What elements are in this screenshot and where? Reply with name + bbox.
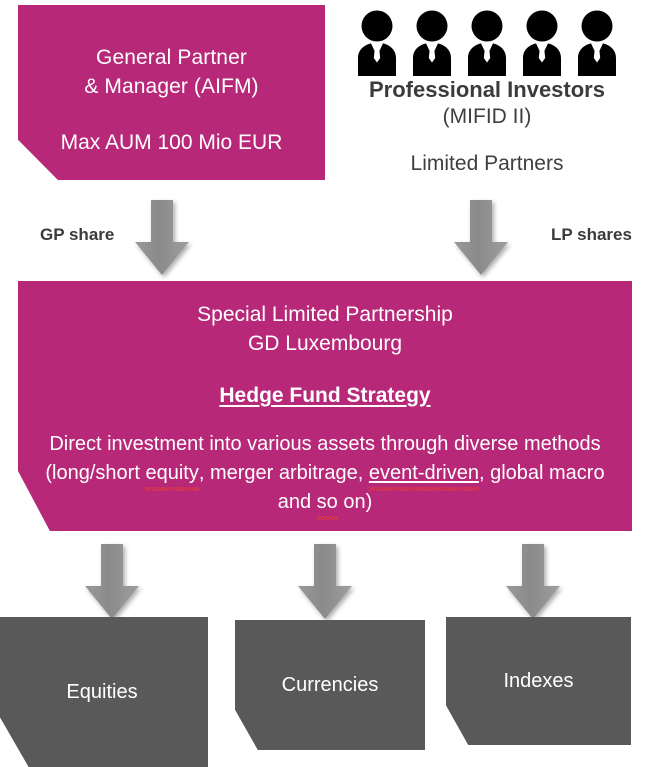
investors-title: Professional Investors — [369, 77, 605, 103]
lp-shares-label: LP shares — [551, 225, 632, 245]
asset-class-label: Indexes — [503, 669, 573, 693]
asset-class-box-equities: Equities — [0, 617, 208, 767]
strategy-text-part: on) — [338, 491, 372, 513]
investor-icon-row — [353, 6, 621, 76]
strategy-text-misspelled-so: so — [317, 488, 338, 517]
gp-max-aum-text: Max AUM 100 Mio EUR — [61, 128, 283, 157]
gp-title-line-1: General Partner — [96, 43, 247, 72]
down-arrow-icon — [133, 198, 195, 280]
general-partner-panel: General Partner & Manager (AIFM) Max AUM… — [18, 5, 325, 180]
business-person-icon — [518, 10, 566, 76]
strategy-description: Direct investment into various assets th… — [18, 430, 632, 517]
slp-name-line-1: Special Limited Partnership — [197, 300, 453, 329]
special-limited-partnership-panel: Special Limited Partnership GD Luxembour… — [18, 281, 632, 531]
hedge-fund-strategy-heading: Hedge Fund Strategy — [219, 384, 430, 408]
down-arrow-icon — [452, 198, 514, 280]
strategy-text-misspelled-event-driven: event-driven — [369, 459, 479, 488]
down-arrow-icon — [296, 542, 358, 624]
diagram-canvas: General Partner & Manager (AIFM) Max AUM… — [0, 0, 647, 767]
business-person-icon — [408, 10, 456, 76]
strategy-text-misspelled-equity: equity — [145, 459, 198, 488]
gp-title-line-2: & Manager (AIFM) — [84, 72, 258, 101]
business-person-icon — [353, 10, 401, 76]
business-person-icon — [463, 10, 511, 76]
professional-investors-group: Professional Investors (MIFID II) Limite… — [332, 2, 642, 182]
down-arrow-icon — [83, 542, 145, 624]
asset-class-box-indexes: Indexes — [446, 617, 631, 745]
strategy-text-part: , merger arbitrage, — [199, 462, 369, 484]
gp-share-label: GP share — [40, 225, 114, 245]
slp-name-line-2: GD Luxembourg — [248, 329, 402, 358]
down-arrow-icon — [504, 542, 566, 624]
asset-class-box-currencies: Currencies — [235, 620, 425, 750]
business-person-icon — [573, 10, 621, 76]
asset-class-label: Currencies — [282, 673, 379, 697]
investors-role-label: Limited Partners — [411, 150, 564, 177]
asset-class-label: Equities — [48, 680, 137, 704]
investors-regulation-subtitle: (MIFID II) — [443, 103, 532, 130]
